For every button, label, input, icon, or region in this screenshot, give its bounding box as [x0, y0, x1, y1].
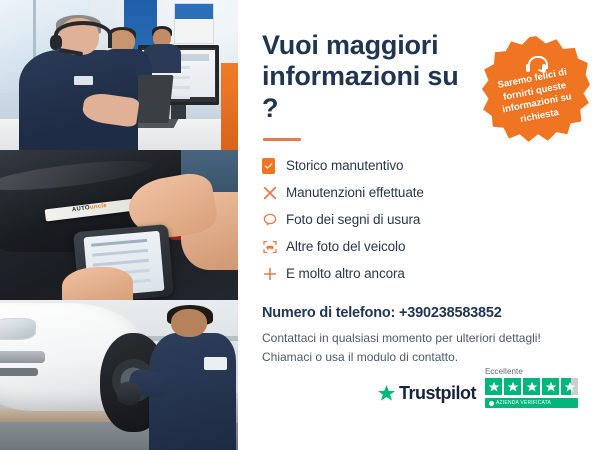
- trustpilot-wordmark: Trustpilot: [399, 383, 476, 404]
- mechanic-wheel-inspection-photo: [0, 300, 238, 450]
- star-filled: [485, 378, 502, 395]
- contact-copy: Contattaci in qualsiasi momento per ulte…: [262, 329, 578, 366]
- list-item: Altre foto del veicolo: [262, 234, 578, 260]
- contact-copy-line-2: Chiamaci o usa il modulo di contatto.: [262, 348, 578, 367]
- headline-line-2: informazioni su ?: [262, 61, 459, 122]
- photo-column: AUTOuncle: [0, 0, 238, 450]
- plus-icon: [262, 266, 286, 282]
- star-filled: [504, 378, 521, 395]
- headline-line-1: Vuoi maggiori: [262, 30, 438, 60]
- call-centre-agents-photo: [0, 0, 238, 150]
- car-scan-icon: [262, 239, 286, 255]
- trustpilot-star-icon: [377, 384, 396, 403]
- phone-line: Numero di telefono: +390238583852: [262, 305, 578, 321]
- page-title: Vuoi maggiori informazioni su ?: [262, 30, 477, 124]
- callout-badge: Saremo felici di fornirti queste informa…: [482, 36, 590, 144]
- feature-list: Storico manutentivo Manutenzioni effettu…: [262, 153, 578, 287]
- trustpilot-widget[interactable]: Trustpilot Eccellente: [377, 367, 578, 408]
- list-item: Foto dei segni di usura: [262, 207, 578, 233]
- contact-copy-line-1: Contattaci in qualsiasi momento per ulte…: [262, 329, 578, 348]
- list-item: E molto altro ancora: [262, 261, 578, 287]
- verified-label: AZIENDA VERIFICATA: [496, 400, 551, 406]
- list-item: Storico manutentivo: [262, 153, 578, 179]
- star-filled: [523, 378, 540, 395]
- feature-label: Storico manutentivo: [286, 158, 403, 173]
- verified-check-icon: [489, 401, 494, 406]
- phone-label: Numero di telefono:: [262, 305, 395, 321]
- phone-number[interactable]: +390238583852: [399, 305, 502, 321]
- trustpilot-rating-label: Eccellente: [485, 367, 523, 376]
- trustpilot-rating: Eccellente: [485, 367, 578, 408]
- document-check-icon: [262, 158, 286, 174]
- feature-label: Manutenzioni effettuate: [286, 185, 424, 200]
- star-partial: [561, 378, 578, 395]
- speech-bubble-icon: [262, 212, 286, 228]
- bumper-inspection-tablet-photo: AUTOuncle: [0, 150, 238, 300]
- verified-business-badge: AZIENDA VERIFICATA: [485, 398, 578, 408]
- feature-label: Foto dei segni di usura: [286, 212, 420, 227]
- title-divider: [263, 138, 301, 141]
- promo-card: AUTOuncle: [0, 0, 600, 450]
- trustpilot-logo: Trustpilot: [377, 383, 476, 408]
- star-filled: [542, 378, 559, 395]
- feature-label: Altre foto del veicolo: [286, 239, 405, 254]
- tools-cross-icon: [262, 185, 286, 201]
- feature-label: E molto altro ancora: [286, 266, 405, 281]
- list-item: Manutenzioni effettuate: [262, 180, 578, 206]
- trustpilot-stars: [485, 378, 578, 395]
- content-panel: Vuoi maggiori informazioni su ? Saremo f…: [238, 0, 600, 450]
